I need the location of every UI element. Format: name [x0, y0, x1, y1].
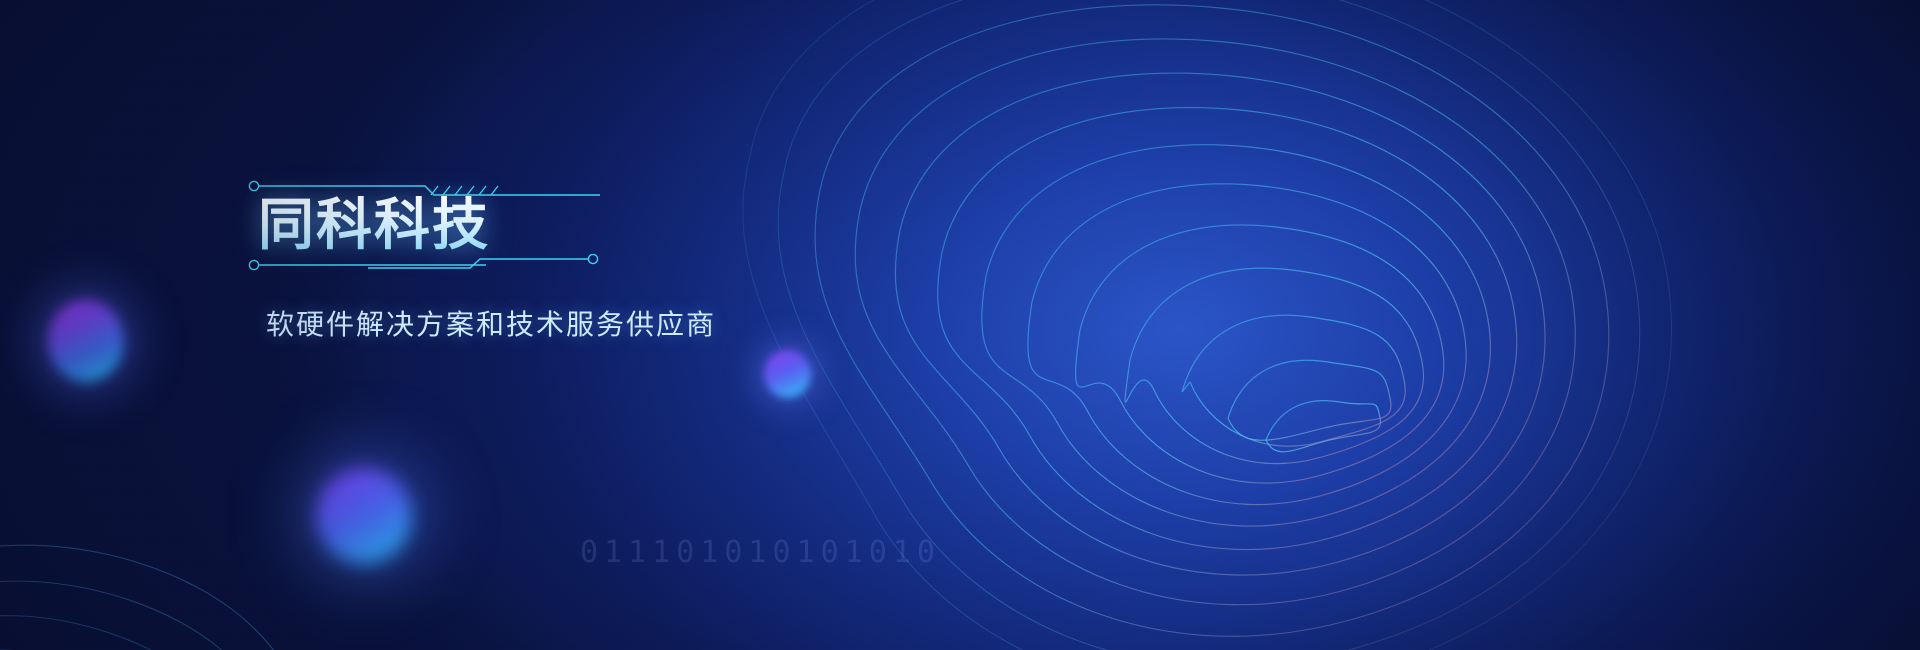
glow-orb-center: [764, 350, 811, 398]
binary-watermark: 011101010101010 011010101010101: [580, 448, 941, 650]
decoration-path-bottom-right: [368, 259, 588, 268]
contour-rings-right-svg: [700, 0, 1700, 650]
glow-orb-bottom: [316, 468, 412, 564]
glow-orb-left: [48, 300, 124, 382]
hero-banner: 011101010101010 011010101010101 同科科技 软硬件…: [0, 0, 1920, 650]
decoration-node-top-left: [249, 181, 258, 190]
contour-rings-right: [700, 0, 1700, 650]
contour-rings-left-svg: [0, 380, 400, 650]
decoration-node-bottom-right: [588, 254, 597, 263]
decoration-line-bottom: [248, 254, 608, 276]
decoration-line-bottom-svg: [248, 254, 608, 276]
contour-rings-left: [0, 380, 400, 650]
brand-logo-block: 同科科技: [248, 178, 668, 278]
decoration-node-bottom-left: [249, 260, 258, 269]
brand-title: 同科科技: [258, 196, 490, 256]
brand-subtitle: 软硬件解决方案和技术服务供应商: [266, 303, 716, 343]
binary-line-1: 011101010101010: [580, 532, 941, 574]
